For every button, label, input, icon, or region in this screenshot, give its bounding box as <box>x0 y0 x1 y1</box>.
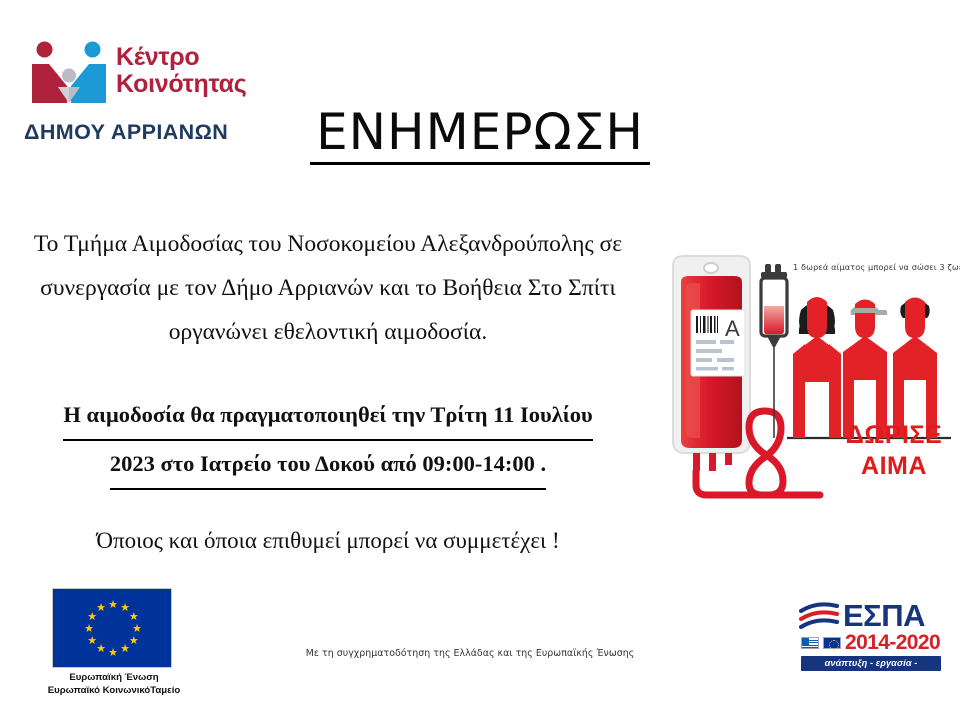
cofunding-note: Με τη συγχρηματοδότηση της Ελλάδας και τ… <box>230 648 710 659</box>
eu-star: ★ <box>108 600 119 611</box>
family-figures-icon <box>30 40 108 108</box>
eu-caption-line-1: Ευρωπαϊκή Ένωση <box>28 671 200 684</box>
intro-line-3: οργανώνει εθελοντική αιμοδοσία. <box>8 310 648 354</box>
espa-flag-icons <box>801 636 843 651</box>
event-details-line-1: Η αιμοδοσία θα πραγματοποιηθεί την Τρίτη… <box>63 392 592 441</box>
poster-canvas: Κέντρο Κοινότητας ΔΗΜΟΥ ΑΡΡΙΑΝΩΝ ΕΝΗΜΕΡΩ… <box>0 0 960 720</box>
intro-line-1: Το Τμήμα Αιμοδοσίας του Νοσοκομείου Αλεξ… <box>8 222 648 266</box>
eu-caption: Ευρωπαϊκή Ένωση Ευρωπαϊκό ΚοινωνικόΤαμεί… <box>28 671 200 697</box>
eu-star: ★ <box>120 644 131 655</box>
greece-flag-icon <box>801 637 819 649</box>
three-people-icon <box>793 297 937 438</box>
logo-wordmark: Κέντρο Κοινότητας <box>116 44 296 97</box>
page-title-text: ΕΝΗΜΕΡΩΣΗ <box>310 106 650 165</box>
eu-star: ★ <box>84 624 95 635</box>
invitation-paragraph: Όποιος και όποια επιθυμεί μπορεί να συμμ… <box>8 524 648 558</box>
eu-star: ★ <box>108 648 119 659</box>
espa-slogan: ανάπτυξη - εργασία - αλληλεγγύη <box>801 656 941 671</box>
eu-caption-line-2: Ευρωπαϊκό ΚοινωνικόΤαμείο <box>28 684 200 697</box>
eu-star: ★ <box>132 624 143 635</box>
eu-flag-small-icon <box>823 637 841 649</box>
espa-wordmark: ΕΣΠΑ <box>843 600 925 631</box>
blood-type-text: A <box>725 316 740 341</box>
eu-star: ★ <box>96 603 107 614</box>
eu-star: ★ <box>128 612 139 623</box>
donate-word-1: ΔΩΡΙΣΕ <box>832 420 956 451</box>
donate-word-2: ΑΙΜΑ <box>832 451 956 482</box>
illustration-tagline: 1 δωρεά αίματος μπορεί να σώσει 3 ζωές <box>793 262 960 272</box>
intro-line-2: συνεργασία με τον Δήμο Αρριανών και το Β… <box>8 266 648 310</box>
logo-word-line2: Κοινότητας <box>116 71 296 98</box>
intro-paragraph: Το Τμήμα Αιμοδοσίας του Νοσοκομείου Αλεξ… <box>8 222 648 354</box>
espa-swoosh-icon <box>799 602 843 632</box>
blood-bag-icon: A <box>673 256 750 471</box>
event-details-line-2: 2023 στο Ιατρείο του Δοκού από 09:00-14:… <box>110 441 546 490</box>
european-union-flag-icon: ★★★★★★★★★★★★ <box>52 588 172 668</box>
espa-years: 2014-2020 <box>845 632 940 653</box>
donate-blood-callout: ΔΩΡΙΣΕ ΑΙΜΑ <box>832 420 956 482</box>
event-details-paragraph: Η αιμοδοσία θα πραγματοποιηθεί την Τρίτη… <box>8 392 648 490</box>
espa-logo: ΕΣΠΑ 2014-2020 ανάπτυξη - εργασία - αλλη… <box>797 598 945 680</box>
page-title: ΕΝΗΜΕΡΩΣΗ <box>0 103 960 165</box>
eu-star: ★ <box>87 636 98 647</box>
logo-word-line1: Κέντρο <box>116 43 199 71</box>
